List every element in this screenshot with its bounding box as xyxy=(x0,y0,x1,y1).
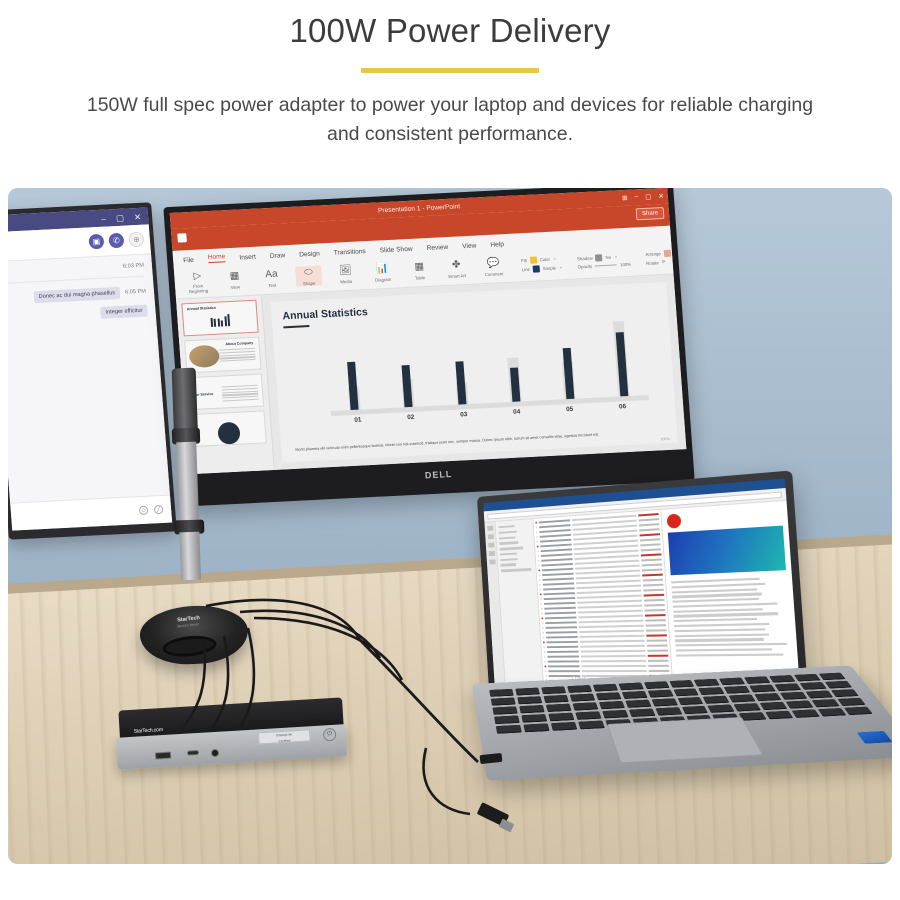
chart-x-label: 04 xyxy=(490,407,543,417)
keyboard-key[interactable] xyxy=(647,690,673,698)
share-button[interactable]: Share xyxy=(636,207,665,220)
stand-brand-sub: Monitor Mount xyxy=(177,622,199,628)
message-date xyxy=(647,649,668,651)
chart-column xyxy=(594,317,648,397)
keyboard-key[interactable] xyxy=(523,723,549,732)
message-subject xyxy=(578,614,643,618)
tab-home[interactable]: Home xyxy=(207,253,225,263)
tab-view[interactable]: View xyxy=(462,243,477,251)
keyboard-key[interactable] xyxy=(489,689,514,697)
opacity-control[interactable]: Opacity 100% xyxy=(577,261,631,269)
message-subject xyxy=(577,589,642,594)
message-date xyxy=(648,659,669,661)
unread-indicator xyxy=(538,560,540,562)
keyboard-key[interactable] xyxy=(831,689,859,697)
keyboard-key[interactable] xyxy=(818,708,846,717)
chart-plot-area xyxy=(325,317,648,411)
keyboard-key[interactable] xyxy=(800,682,827,690)
unread-indicator xyxy=(538,565,540,567)
message-date xyxy=(646,634,667,637)
body-line xyxy=(675,633,769,637)
keyboard-key[interactable] xyxy=(673,688,699,696)
keyboard-key[interactable] xyxy=(775,683,802,691)
message-sender xyxy=(547,650,578,652)
save-icon[interactable] xyxy=(177,233,187,242)
tool-label: Diagram xyxy=(370,276,396,282)
keyboard-key[interactable] xyxy=(515,688,540,696)
dock-brand: StarTech.com xyxy=(133,724,163,735)
fill-label: Fill xyxy=(521,257,527,262)
message-row[interactable] xyxy=(544,649,668,653)
close-icon[interactable]: ✕ xyxy=(134,212,142,220)
keyboard-key[interactable] xyxy=(618,682,643,690)
body-line xyxy=(675,638,764,642)
keyboard-key[interactable] xyxy=(572,702,598,710)
attach-icon[interactable]: ╱ xyxy=(154,505,164,514)
message-subject xyxy=(578,604,643,608)
tab-insert[interactable]: Insert xyxy=(239,254,256,262)
tool-label: Text xyxy=(259,282,285,288)
nav-icon[interactable] xyxy=(488,551,494,556)
minimize-icon[interactable]: – xyxy=(634,193,638,201)
line-swatch[interactable] xyxy=(533,265,541,272)
keyboard-key[interactable] xyxy=(548,713,574,722)
chart-x-label: 01 xyxy=(331,415,384,425)
product-feature-page: 100W Power Delivery 150W full spec power… xyxy=(0,0,900,900)
dock-brand-suffix: .com xyxy=(152,727,163,734)
message-timestamp: 6:05 PM xyxy=(125,289,146,296)
message-date xyxy=(639,523,660,527)
keyboard-key[interactable] xyxy=(655,707,682,716)
keyboard-key[interactable] xyxy=(806,690,834,698)
outlook-reading-pane[interactable] xyxy=(660,501,800,689)
unread-indicator xyxy=(541,608,543,610)
chart-column xyxy=(486,323,540,403)
video-call-icon[interactable]: ▣ xyxy=(88,234,104,250)
thumbnail-line xyxy=(220,359,256,362)
message-sender xyxy=(547,645,578,648)
message-row[interactable] xyxy=(544,654,668,658)
chart-column xyxy=(379,328,433,408)
nav-icon[interactable] xyxy=(489,559,495,564)
pole-segment-top xyxy=(172,368,198,433)
usb-c-port[interactable] xyxy=(187,750,199,756)
keyboard-key[interactable] xyxy=(551,722,577,731)
window-controls: ⊞ – ▢ ✕ xyxy=(622,192,664,202)
body-line xyxy=(674,628,765,632)
slide-editor[interactable]: Annual Statistics 010203040506 Morbi pha… xyxy=(262,275,686,470)
tool-smart-art[interactable]: ✤Smart Art xyxy=(443,257,470,278)
tool-shape[interactable]: ⬭Shape xyxy=(295,265,322,286)
message-sender xyxy=(542,573,573,577)
slide-canvas[interactable]: Annual Statistics 010203040506 Morbi pha… xyxy=(270,282,677,463)
unread-indicator xyxy=(536,526,538,528)
tab-draw[interactable]: Draw xyxy=(270,252,286,260)
keyboard-key[interactable] xyxy=(541,686,566,694)
nav-icon[interactable] xyxy=(487,534,493,539)
message-date xyxy=(645,624,666,627)
folder-item[interactable] xyxy=(499,531,517,534)
rotate-control[interactable]: Rotate ⟳ xyxy=(646,258,682,266)
tool-table[interactable]: ▦Table xyxy=(406,259,433,280)
message-row[interactable] xyxy=(544,664,669,667)
unread-indicator xyxy=(540,593,542,595)
message-date xyxy=(638,513,659,517)
displaylink-label: DisplayLink Certified xyxy=(258,729,311,744)
email-body-text xyxy=(671,577,792,657)
thumbnail-lines xyxy=(222,385,259,403)
message-sender xyxy=(540,529,571,533)
folder-item[interactable] xyxy=(499,541,518,544)
thumbnail-lines xyxy=(219,348,256,364)
thumbnail-line xyxy=(223,399,259,402)
keyboard-key[interactable] xyxy=(643,681,669,689)
message-sender xyxy=(545,611,576,614)
tool-from-beginning[interactable]: ▷From Beginning xyxy=(184,268,212,294)
tool-view[interactable]: ▦View xyxy=(221,269,248,290)
folder-item[interactable] xyxy=(498,525,514,528)
keyboard-key[interactable] xyxy=(719,677,745,685)
keyboard-key[interactable] xyxy=(837,698,865,706)
shape-icon: ⬭ xyxy=(295,265,322,280)
page-title: 100W Power Delivery xyxy=(0,8,900,54)
message-date xyxy=(643,594,664,597)
unread-indicator xyxy=(535,522,537,524)
message-date xyxy=(646,629,667,632)
keyboard-key[interactable] xyxy=(575,711,601,720)
message-subject xyxy=(576,575,641,580)
folder-item[interactable] xyxy=(500,552,518,555)
tab-design[interactable]: Design xyxy=(299,250,320,258)
opacity-value: 100% xyxy=(620,261,631,267)
body-line xyxy=(672,598,758,603)
keyboard-key[interactable] xyxy=(734,703,761,711)
thumbnail-bar xyxy=(221,320,223,327)
chevron-down-icon[interactable]: ⌄ xyxy=(614,253,618,259)
chart-x-label: 03 xyxy=(437,410,490,420)
audio-call-icon[interactable]: ✆ xyxy=(108,233,124,249)
message-sender xyxy=(548,665,579,667)
tool-label: Comment xyxy=(481,270,507,276)
message-sender xyxy=(544,602,575,605)
keyboard-key[interactable] xyxy=(819,673,846,681)
keyboard-key[interactable] xyxy=(592,684,617,692)
nav-icon[interactable] xyxy=(488,543,494,548)
message-bubble: Donec ac dui magna phasellus xyxy=(33,287,120,303)
laptop-screen xyxy=(483,478,800,688)
text-icon: Aa xyxy=(258,267,285,282)
tool-text[interactable]: AaText xyxy=(258,267,285,288)
unread-indicator xyxy=(542,627,544,629)
pole-segment-middle xyxy=(176,442,199,525)
pole-segment-bottom xyxy=(179,532,201,581)
opacity-slider[interactable] xyxy=(595,264,617,266)
keyboard-key[interactable] xyxy=(765,711,793,720)
slide-thumbnail[interactable]: Annual Statistics xyxy=(181,300,258,337)
line-control[interactable]: Line Simple ⌄ xyxy=(522,264,563,273)
line-label: Line xyxy=(522,266,530,271)
slide-title-rule xyxy=(283,325,309,328)
tool-diagram[interactable]: 📊Diagram xyxy=(369,261,396,282)
left-monitor-screen: – ▢ ✕ ▣ ✆ ⊕ 6:03 PM Donec ac dui magna p… xyxy=(8,207,172,530)
unread-indicator xyxy=(536,536,538,538)
email-hero-image xyxy=(668,526,786,576)
teams-message-list: 6:03 PM Donec ac dui magna phasellus 6:0… xyxy=(8,254,170,502)
stand-cable-hole xyxy=(162,633,218,659)
arrange-front-icon[interactable] xyxy=(663,250,671,257)
keyboard-key[interactable] xyxy=(694,679,720,687)
keyboard-key[interactable] xyxy=(517,696,542,704)
thumbnail-chart xyxy=(187,310,253,328)
message-subject xyxy=(580,650,645,653)
unread-indicator xyxy=(537,550,539,552)
thumbnail-bar xyxy=(217,318,220,326)
message-sender xyxy=(546,626,577,629)
message-subject xyxy=(576,584,641,589)
keyboard-key[interactable] xyxy=(599,701,625,709)
divider-wrapper xyxy=(0,68,900,73)
chevron-down-icon[interactable]: ⌄ xyxy=(559,264,563,270)
message-date xyxy=(638,518,659,522)
chart-x-label: 06 xyxy=(596,402,649,412)
thumbnail-bar xyxy=(214,319,217,327)
page-subtitle: 150W full spec power adapter to power yo… xyxy=(70,91,830,149)
tool-label: Table xyxy=(407,274,433,280)
accent-divider xyxy=(361,68,539,73)
keyboard-key[interactable] xyxy=(708,704,735,712)
folder-item[interactable] xyxy=(500,558,517,561)
message-sender xyxy=(546,621,577,624)
message-date xyxy=(642,579,663,582)
keyboard-key[interactable] xyxy=(496,725,522,734)
message-date xyxy=(644,609,665,612)
unread-indicator xyxy=(539,574,541,576)
keyboard-key[interactable] xyxy=(569,693,594,701)
view-icon: ▦ xyxy=(221,269,248,284)
message-sender xyxy=(546,631,577,634)
message-row[interactable] xyxy=(545,669,670,672)
keyboard-key[interactable] xyxy=(792,709,820,718)
page-header: 100W Power Delivery 150W full spec power… xyxy=(0,0,900,149)
sender-logo xyxy=(667,514,682,529)
tool-label: Shape xyxy=(296,280,322,286)
keyboard-key[interactable] xyxy=(825,681,852,689)
arrange-control[interactable]: Arrange xyxy=(645,249,681,258)
shadow-swatch[interactable] xyxy=(595,254,603,261)
more-options-icon[interactable]: ⊕ xyxy=(128,232,144,248)
keyboard-key[interactable] xyxy=(492,706,517,714)
maximize-icon[interactable]: ▢ xyxy=(645,193,652,201)
unread-indicator xyxy=(536,531,538,533)
unread-indicator xyxy=(541,612,543,614)
fill-control[interactable]: Fill Color ⌄ xyxy=(521,255,562,264)
message-subject xyxy=(576,579,641,584)
message-sender xyxy=(547,641,578,644)
slide-thumbnail[interactable] xyxy=(189,410,266,447)
tool-label: From Beginning xyxy=(185,283,212,294)
message-row: Donec ac dui magna phasellus 6:05 PM xyxy=(8,286,146,305)
slide-title: Annual Statistics xyxy=(282,291,656,322)
keyboard-key[interactable] xyxy=(749,685,776,693)
keyboard-key[interactable] xyxy=(494,715,520,724)
message-subject xyxy=(579,629,644,632)
opacity-label: Opacity xyxy=(577,263,592,269)
right-monitor: Presentation 1 - PowerPoint ⊞ – ▢ ✕ Shar… xyxy=(163,188,694,507)
keyboard-key[interactable] xyxy=(729,694,756,702)
message-sender xyxy=(546,636,577,639)
maximize-icon[interactable]: ▢ xyxy=(116,213,125,221)
message-row[interactable] xyxy=(543,634,667,639)
message-date xyxy=(647,644,668,646)
fill-value: Color xyxy=(539,256,550,262)
body-line xyxy=(674,618,757,622)
message-row: Integer efficitur xyxy=(8,305,148,324)
message-sender xyxy=(544,592,575,595)
tab-review[interactable]: Review xyxy=(426,244,448,252)
keyboard-key[interactable] xyxy=(602,710,628,719)
message-subject xyxy=(577,594,642,598)
tool-comment[interactable]: 💬Comment xyxy=(480,256,507,277)
message-subject xyxy=(581,660,646,663)
message-subject xyxy=(577,599,642,603)
message-sender xyxy=(540,534,571,538)
keyboard-key[interactable] xyxy=(724,686,751,694)
shadow-control[interactable]: Shadow No ⌄ xyxy=(577,252,631,262)
keyboard-key[interactable] xyxy=(677,697,704,705)
tool-media[interactable]: 🖼Media xyxy=(332,263,359,284)
message-date xyxy=(642,573,663,576)
message-date xyxy=(641,558,662,561)
unread-indicator xyxy=(537,545,539,547)
message-sender xyxy=(548,655,579,657)
unread-indicator xyxy=(543,636,545,638)
body-line xyxy=(675,643,786,647)
message-row[interactable] xyxy=(543,644,667,648)
message-date xyxy=(645,614,666,617)
unread-indicator xyxy=(539,584,541,586)
folder-item[interactable] xyxy=(501,564,516,567)
message-row[interactable] xyxy=(542,629,666,634)
message-row[interactable] xyxy=(542,624,666,629)
close-icon[interactable]: ✕ xyxy=(658,192,664,200)
restore-icon[interactable]: ⊞ xyxy=(622,194,628,202)
message-sender xyxy=(539,524,570,528)
unread-indicator xyxy=(541,617,543,619)
message-subject xyxy=(579,624,644,628)
message-date xyxy=(641,563,662,566)
keyboard-key[interactable] xyxy=(567,685,592,693)
laptop-trackpad[interactable] xyxy=(607,717,764,763)
message-row[interactable] xyxy=(543,639,667,643)
message-date xyxy=(640,538,661,541)
chart-column xyxy=(540,320,594,400)
comment-icon: 💬 xyxy=(480,256,507,271)
diagram-icon: 📊 xyxy=(369,261,396,276)
keyboard-key[interactable] xyxy=(681,706,708,714)
message-sender xyxy=(541,548,572,552)
message-date xyxy=(645,619,666,622)
keyboard-key[interactable] xyxy=(578,720,605,729)
outlook-message-list[interactable] xyxy=(533,510,672,688)
chevron-down-icon[interactable]: ⌄ xyxy=(553,255,557,261)
fill-swatch[interactable] xyxy=(529,256,537,263)
keyboard-key[interactable] xyxy=(794,674,821,682)
message-sender xyxy=(545,616,576,619)
keyboard-key[interactable] xyxy=(546,704,572,712)
keyboard-key[interactable] xyxy=(491,697,516,705)
tab-file[interactable]: File xyxy=(183,257,194,265)
emoji-icon[interactable]: ☺ xyxy=(139,506,149,515)
message-row[interactable] xyxy=(544,659,669,662)
folder-item[interactable] xyxy=(500,547,523,551)
format-group-fill: Fill Color ⌄ Line Simple ⌄ xyxy=(521,255,563,273)
keyboard-key[interactable] xyxy=(786,700,814,708)
folder-item[interactable] xyxy=(501,568,531,572)
keyboard-key[interactable] xyxy=(625,700,651,708)
minimize-icon[interactable]: – xyxy=(101,214,106,222)
unread-indicator xyxy=(539,579,541,581)
keyboard-key[interactable] xyxy=(621,691,647,699)
keyboard-key[interactable] xyxy=(844,707,873,716)
message-sender xyxy=(542,568,573,572)
keyboard-key[interactable] xyxy=(651,698,677,706)
keyboard-key[interactable] xyxy=(519,705,544,713)
thumbnail-shape xyxy=(217,422,241,445)
keyboard-key[interactable] xyxy=(780,692,807,700)
zoom-level[interactable]: 100% xyxy=(660,437,669,441)
unread-indicator xyxy=(540,598,542,600)
tool-label: Smart Art xyxy=(444,272,470,278)
table-icon: ▦ xyxy=(406,259,433,274)
message-date xyxy=(639,533,660,536)
keyboard-key[interactable] xyxy=(628,708,655,717)
intel-badge xyxy=(857,731,892,744)
unread-indicator xyxy=(542,631,544,633)
keyboard-key[interactable] xyxy=(760,702,788,710)
message-sender xyxy=(543,582,574,585)
media-icon: 🖼 xyxy=(332,263,359,278)
keyboard-key[interactable] xyxy=(543,695,568,703)
keyboard-key[interactable] xyxy=(521,714,547,723)
folder-item[interactable] xyxy=(499,536,515,539)
keyboard-key[interactable] xyxy=(755,693,782,701)
message-sender xyxy=(543,587,574,590)
unread-indicator xyxy=(536,541,538,543)
keyboard-key[interactable] xyxy=(698,687,724,695)
keyboard-key[interactable] xyxy=(703,696,730,704)
keyboard-key[interactable] xyxy=(669,680,695,688)
tab-help[interactable]: Help xyxy=(490,241,504,249)
keyboard-key[interactable] xyxy=(812,699,840,707)
nav-icon[interactable] xyxy=(487,526,493,531)
shadow-value: No xyxy=(605,254,611,259)
message-divider xyxy=(8,276,145,284)
thumbnail-bar xyxy=(228,314,231,326)
message-sender xyxy=(545,607,576,610)
laptop-base xyxy=(472,665,892,780)
chart-x-label: 05 xyxy=(543,405,596,415)
usb-a-port[interactable] xyxy=(155,752,171,760)
tool-label: View xyxy=(222,284,248,290)
rotate-icon[interactable]: ⟳ xyxy=(662,259,666,265)
chart-column xyxy=(325,331,379,411)
right-monitor-screen: Presentation 1 - PowerPoint ⊞ – ▢ ✕ Shar… xyxy=(170,188,687,474)
unread-indicator xyxy=(545,675,547,677)
keyboard-key[interactable] xyxy=(769,675,796,683)
message-subject xyxy=(580,644,645,647)
keyboard-key[interactable] xyxy=(595,692,621,700)
keyboard-key[interactable] xyxy=(744,676,770,684)
